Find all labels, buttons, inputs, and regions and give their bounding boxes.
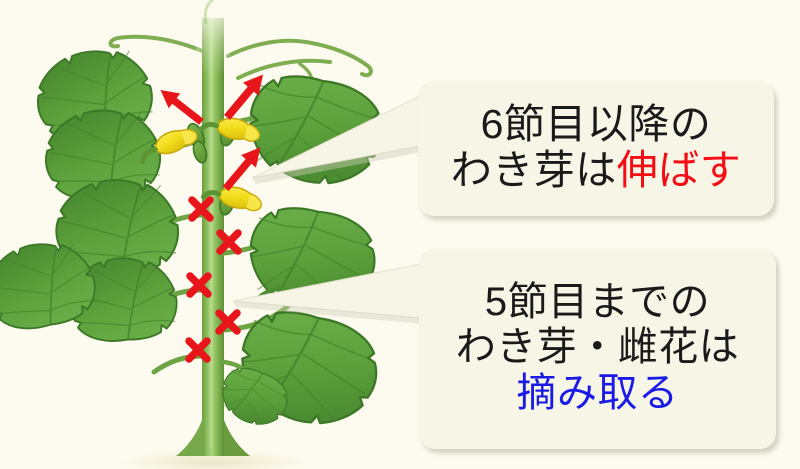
callout-grow-instruction: 6節目以降の わき芽は伸ばす — [418, 81, 774, 216]
callout-upper-line-2: わき芽は伸ばす — [451, 148, 742, 194]
callout-lower-emphasis: 摘み取る — [517, 371, 679, 417]
callout-upper-line-1: 6節目以降の — [481, 102, 712, 148]
callout-upper-line-2-head: わき芽は — [451, 147, 617, 193]
callout-lower-line-1: 5節目までの — [485, 280, 710, 326]
callout-remove-instruction: 5節目までの わき芽・雌花は 摘み取る — [419, 249, 776, 449]
callout-upper-emphasis: 伸ばす — [617, 147, 742, 193]
illustration-canvas: 6節目以降の わき芽は伸ばす 5節目までの わき芽・雌花は 摘み取る — [0, 0, 800, 469]
callout-lower-line-2: わき芽・雌花は — [456, 325, 740, 371]
